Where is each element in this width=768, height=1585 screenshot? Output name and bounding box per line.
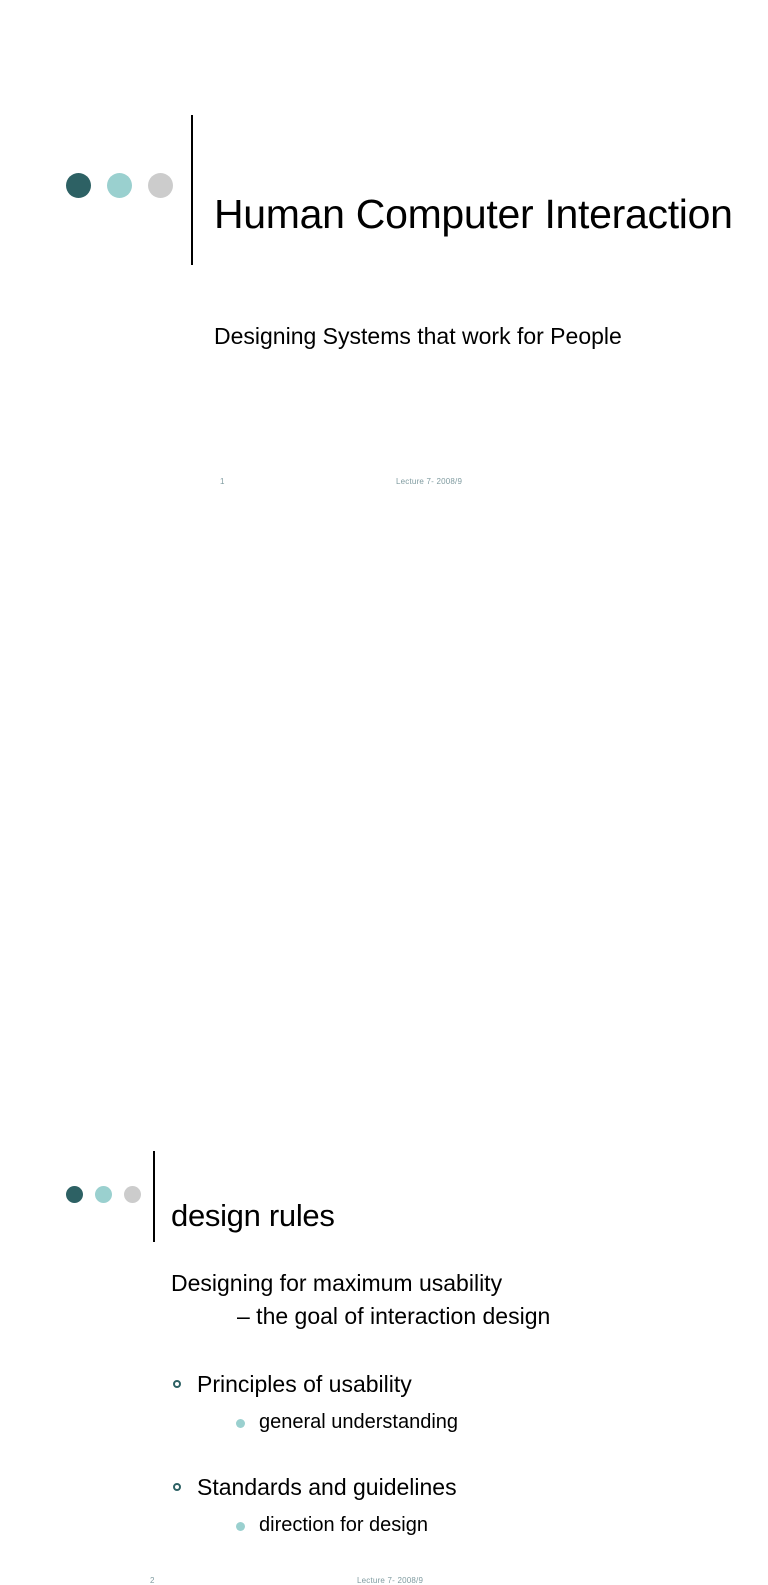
slide-2-lead-line-1: Designing for maximum usability	[171, 1267, 691, 1300]
bullet-label: general understanding	[259, 1411, 458, 1433]
dot-bullet-icon	[236, 1522, 245, 1531]
slide-1: Human Computer Interaction Designing Sys…	[0, 0, 768, 510]
bullet-label: Standards and guidelines	[197, 1474, 457, 1500]
list-item: Principles of usability	[171, 1369, 691, 1399]
slide-2-body: Designing for maximum usability – the go…	[171, 1267, 691, 1539]
slide-2-footer-label: Lecture 7- 2008/9	[357, 1576, 423, 1585]
dot-light-teal-icon	[95, 1186, 112, 1203]
dot-dark-teal-icon	[66, 173, 91, 198]
list-item: Standards and guidelines	[171, 1472, 691, 1502]
dot-dark-teal-icon	[66, 1186, 83, 1203]
slide-1-title: Human Computer Interaction	[214, 184, 734, 244]
dot-bullet-icon	[236, 1419, 245, 1428]
slide-2-title: design rules	[171, 1194, 591, 1238]
document-page: Human Computer Interaction Designing Sys…	[0, 0, 768, 1024]
dot-gray-icon	[148, 173, 173, 198]
slide-1-page-number: 1	[220, 477, 225, 486]
list-item: direction for design	[233, 1511, 691, 1539]
slide-1-footer-label: Lecture 7- 2008/9	[396, 477, 462, 486]
ring-bullet-icon	[173, 1380, 181, 1388]
slide-2-decoration-dots	[66, 1186, 141, 1203]
slide-2-page-number: 2	[150, 1576, 155, 1585]
slide-2-bullet-list: Principles of usability general understa…	[171, 1369, 691, 1539]
bullet-label: direction for design	[259, 1514, 428, 1536]
dot-light-teal-icon	[107, 173, 132, 198]
slide-2-lead-line-2: – the goal of interaction design	[171, 1300, 691, 1333]
slide-1-vertical-rule	[191, 115, 193, 265]
slide-1-decoration-dots	[66, 173, 173, 198]
list-item: general understanding	[233, 1408, 691, 1436]
ring-bullet-icon	[173, 1483, 181, 1491]
slide-1-subtitle: Designing Systems that work for People	[214, 320, 644, 353]
slide-2: design rules Designing for maximum usabi…	[0, 560, 768, 1024]
slide-2-vertical-rule	[153, 1151, 155, 1242]
dot-gray-icon	[124, 1186, 141, 1203]
bullet-label: Principles of usability	[197, 1371, 412, 1397]
